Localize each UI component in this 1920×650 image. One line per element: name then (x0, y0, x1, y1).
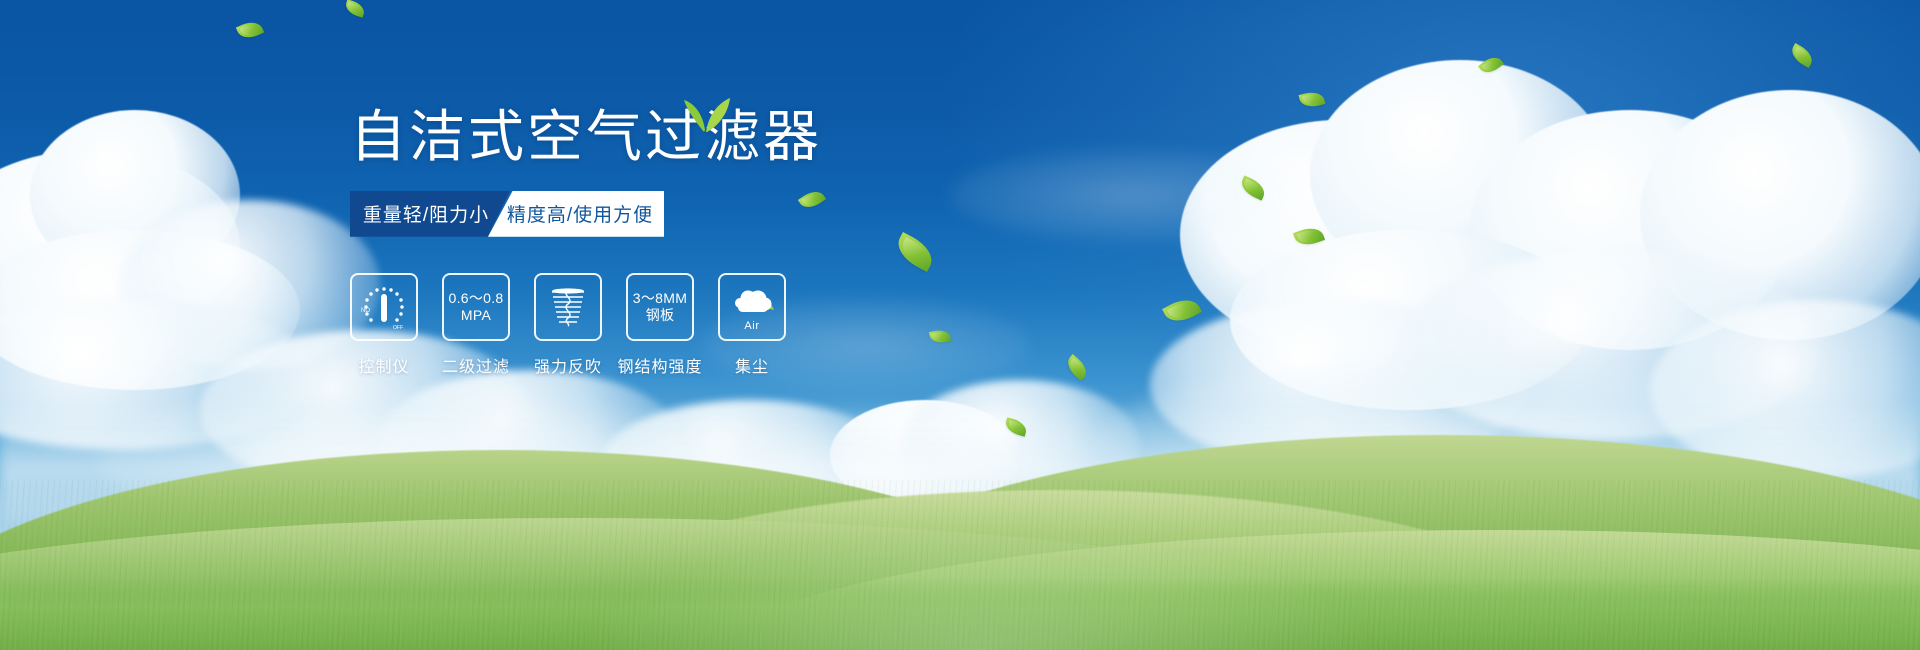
feature-label: 钢结构强度 (618, 353, 703, 377)
feature-item-two-stage-filter[interactable]: 0.6～0.8 MPA 二级过滤 (442, 273, 510, 377)
feature-item-strong-backblow[interactable]: 强力反吹 (534, 273, 602, 377)
product-banner: 自洁式空气过滤器 重量轻/阻力小 精度高/使用方便 (0, 0, 1920, 650)
tab-lightweight-low-resistance[interactable]: 重量轻/阻力小 (350, 191, 510, 237)
filter-coil-icon (542, 281, 594, 333)
feature-box: Air (718, 273, 786, 341)
feature-item-dust-collection[interactable]: Air 集尘 (718, 273, 786, 377)
feature-label: 强力反吹 (534, 353, 602, 377)
dial-off-label: OFF (393, 325, 403, 331)
feature-label: 集尘 (735, 353, 769, 377)
grass-highlight (576, 530, 1382, 650)
tab-high-precision-easy-use[interactable]: 精度高/使用方便 (488, 191, 664, 237)
feature-item-controller[interactable]: NO OFF 控制仪 (350, 273, 418, 377)
dial-on-label: NO (361, 308, 370, 314)
feature-box (534, 273, 602, 341)
feature-item-steel-structure[interactable]: 3～8MM 钢板 钢结构强度 (626, 273, 694, 377)
title-leaf-icon (678, 90, 732, 134)
air-label: Air (720, 320, 784, 332)
steel-plate-text-icon: 3～8MM 钢板 (633, 290, 687, 323)
feature-box: NO OFF (350, 273, 418, 341)
feature-label: 二级过滤 (442, 353, 510, 377)
banner-content: 自洁式空气过滤器 重量轻/阻力小 精度高/使用方便 (350, 108, 970, 377)
power-dial-icon: NO OFF (358, 281, 410, 333)
feature-list: NO OFF 控制仪 0.6～0.8 MPA 二级过滤 (350, 273, 970, 377)
feature-label: 控制仪 (358, 353, 409, 377)
feature-box: 0.6～0.8 MPA (442, 273, 510, 341)
feature-box: 3～8MM 钢板 (626, 273, 694, 341)
feature-tabs: 重量轻/阻力小 精度高/使用方便 (350, 191, 670, 237)
page-title: 自洁式空气过滤器 (350, 108, 970, 167)
pressure-text-icon: 0.6～0.8 MPA (448, 290, 503, 323)
